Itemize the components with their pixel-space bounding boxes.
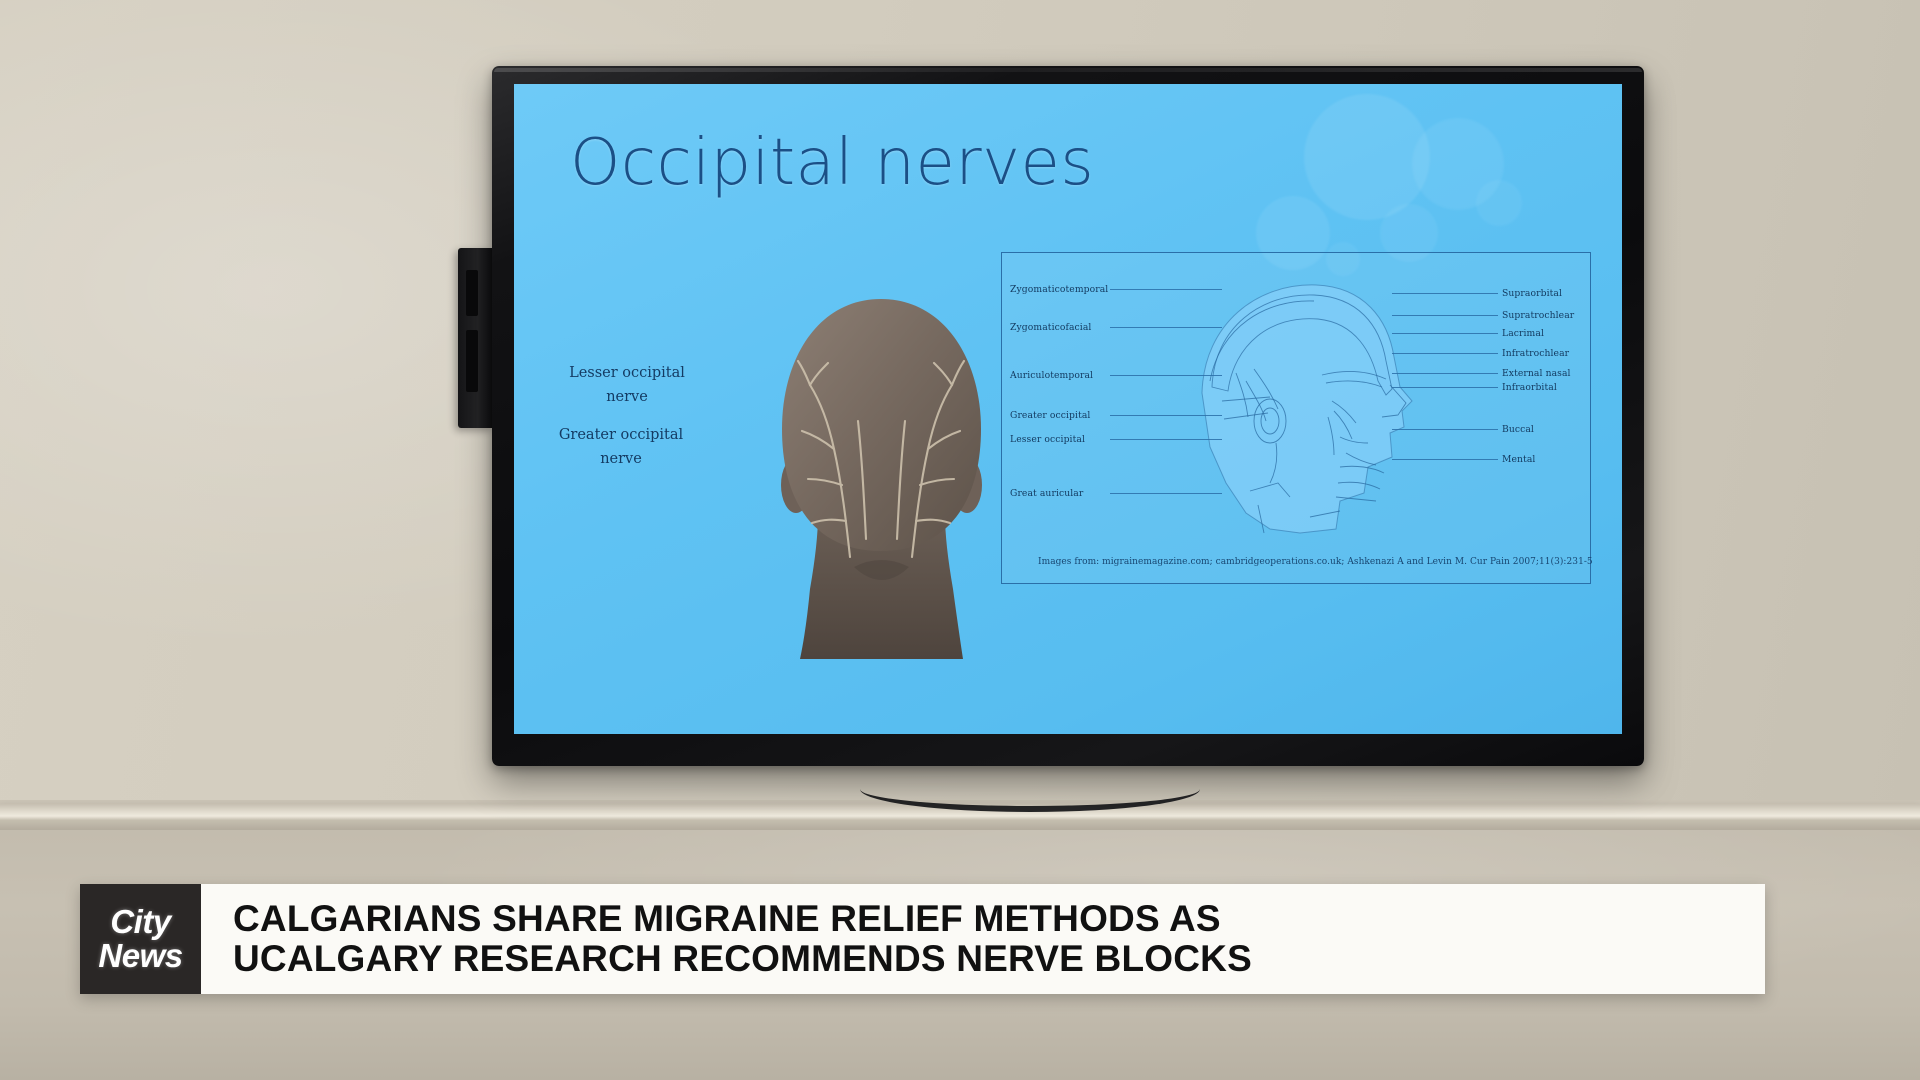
profile-left-leader-5 [1110, 493, 1222, 494]
logo-line-news: News [98, 940, 182, 972]
profile-right-label-0: Supraorbital [1502, 288, 1562, 299]
logo-line-city: City [110, 906, 170, 938]
tv-bezel-highlight [494, 68, 1642, 72]
label-line-2: nerve [600, 451, 642, 467]
profile-left-label-1: Zygomaticofacial [1010, 322, 1091, 333]
posterior-label-greater-occipital: Greater occipital nerve [536, 424, 706, 472]
profile-right-label-7: Mental [1502, 454, 1535, 465]
headline-line-2: UCALGARY RESEARCH RECOMMENDS NERVE BLOCK… [233, 939, 1765, 979]
profile-left-label-0: Zygomaticotemporal [1010, 284, 1108, 295]
tv-screen: Occipital nerves [514, 84, 1622, 734]
profile-right-leader-0 [1392, 293, 1498, 294]
label-line-2: nerve [606, 389, 648, 405]
profile-left-leader-4 [1110, 439, 1222, 440]
lower-third-banner: City News CALGARIANS SHARE MIGRAINE RELI… [80, 884, 1765, 994]
profile-right-label-3: Infratrochlear [1502, 348, 1569, 359]
profile-right-leader-2 [1392, 333, 1498, 334]
profile-right-leader-1 [1392, 315, 1498, 316]
presentation-slide: Occipital nerves [514, 84, 1622, 734]
label-line-1: Lesser occipital [569, 365, 685, 381]
tv-wall-mount-arm [458, 248, 494, 428]
posterior-label-lesser-occipital: Lesser occipital nerve [542, 362, 712, 410]
lateral-head-drawing [1150, 261, 1460, 575]
profile-left-label-3: Greater occipital [1010, 410, 1090, 421]
slide-citation: Images from: migrainemagazine.com; cambr… [1038, 557, 1593, 567]
wall-mounted-television: Occipital nerves [492, 66, 1644, 766]
posterior-head-illustration [754, 289, 1009, 659]
profile-right-label-4: External nasal [1502, 368, 1571, 379]
profile-nerve-diagram: Images from: migrainemagazine.com; cambr… [1001, 252, 1591, 584]
profile-left-leader-1 [1110, 327, 1222, 328]
profile-right-leader-6 [1392, 429, 1498, 430]
profile-right-leader-3 [1392, 353, 1498, 354]
tv-power-cable [860, 766, 1200, 812]
profile-left-leader-0 [1110, 289, 1222, 290]
profile-left-label-2: Auriculotemporal [1010, 370, 1093, 381]
profile-left-leader-3 [1110, 415, 1222, 416]
headline-container: CALGARIANS SHARE MIGRAINE RELIEF METHODS… [201, 884, 1765, 994]
profile-left-label-4: Lesser occipital [1010, 434, 1085, 445]
label-line-1: Greater occipital [559, 427, 683, 443]
profile-left-leader-2 [1110, 375, 1222, 376]
tv-side-port-lower [466, 330, 478, 392]
profile-right-label-6: Buccal [1502, 424, 1534, 435]
citynews-logo: City News [80, 884, 201, 994]
tv-side-port-upper [466, 270, 478, 316]
profile-left-label-5: Great auricular [1010, 488, 1083, 499]
profile-right-label-2: Lacrimal [1502, 328, 1544, 339]
profile-right-leader-4 [1392, 373, 1498, 374]
headline-line-1: CALGARIANS SHARE MIGRAINE RELIEF METHODS… [233, 899, 1765, 939]
profile-right-leader-5 [1392, 387, 1498, 388]
slide-title: Occipital nerves [570, 126, 1094, 200]
profile-right-leader-7 [1392, 459, 1498, 460]
profile-right-label-5: Infraorbital [1502, 382, 1557, 393]
broadcast-frame: Occipital nerves [0, 0, 1920, 1080]
profile-right-label-1: Supratrochlear [1502, 310, 1574, 321]
